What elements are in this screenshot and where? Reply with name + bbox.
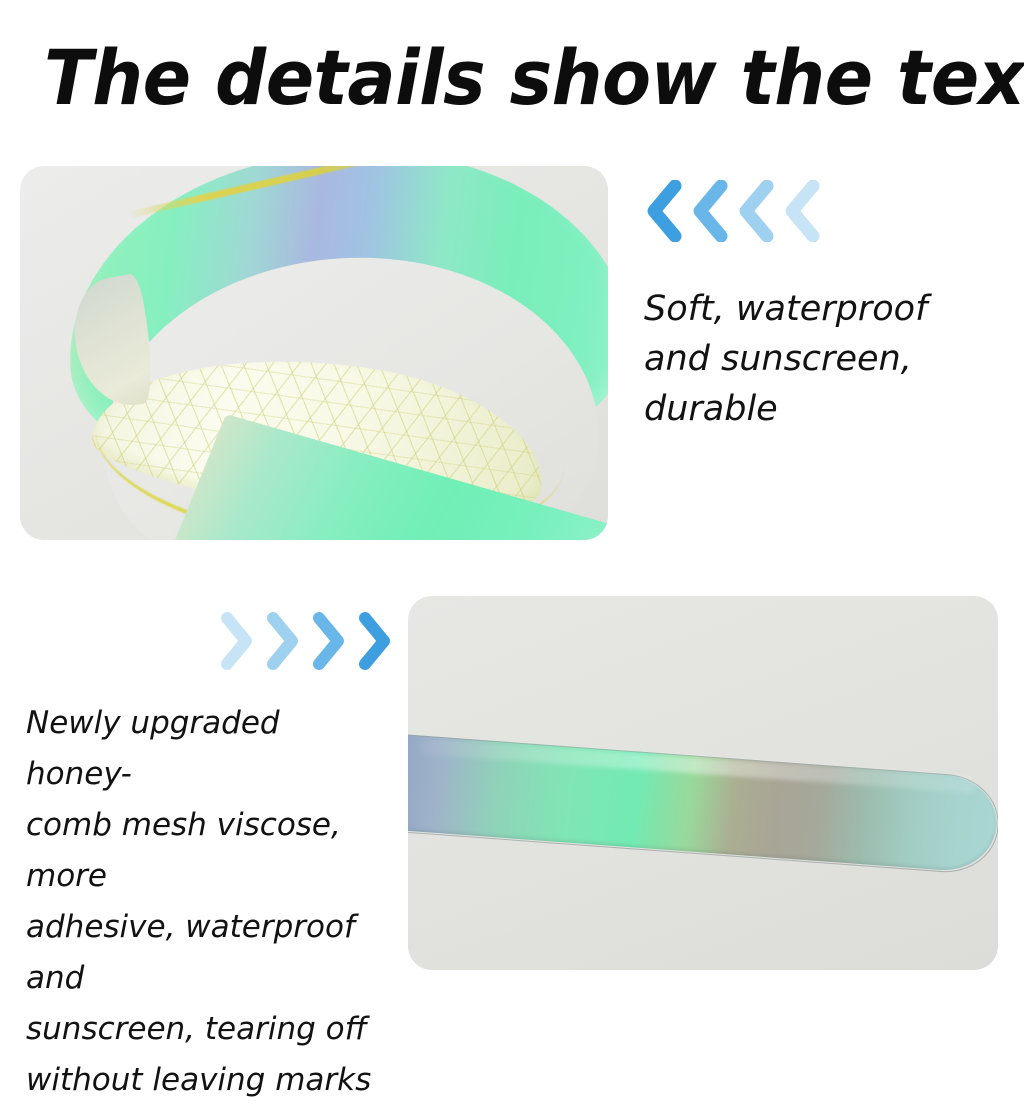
caption-top-line-1: Soft, waterproof [644,284,1004,334]
chevrons-pointing-right [214,610,394,672]
chevron-right-icon-4 [352,610,394,672]
caption-top-line-2: and sunscreen, [644,334,1004,384]
chevron-left-icon-4 [780,180,822,242]
holographic-tape-strip-photo [408,596,998,970]
chevron-left-icon-1 [642,180,684,242]
caption-bottom-line-3: adhesive, waterproof and [26,902,394,1004]
caption-bottom: Newly upgraded honey- comb mesh viscose,… [26,698,394,1106]
caption-bottom-line-5: without leaving marks [26,1055,394,1106]
chevron-left-icon-2 [688,180,730,242]
chevron-left-icon-3 [734,180,776,242]
caption-top: Soft, waterproof and sunscreen, durable [644,284,1004,434]
page-title: The details show the texture [44,36,928,120]
caption-bottom-line-2: comb mesh viscose, more [26,800,394,902]
caption-bottom-line-4: sunscreen, tearing off [26,1004,394,1055]
tape-loop-illustration [20,166,608,540]
chevron-right-icon-2 [260,610,302,672]
holographic-tape-loop-photo [20,166,608,540]
caption-bottom-line-1: Newly upgraded honey- [26,698,394,800]
chevron-right-icon-3 [306,610,348,672]
caption-top-line-3: durable [644,384,1004,434]
chevrons-pointing-left [642,180,822,242]
chevron-right-icon-1 [214,610,256,672]
